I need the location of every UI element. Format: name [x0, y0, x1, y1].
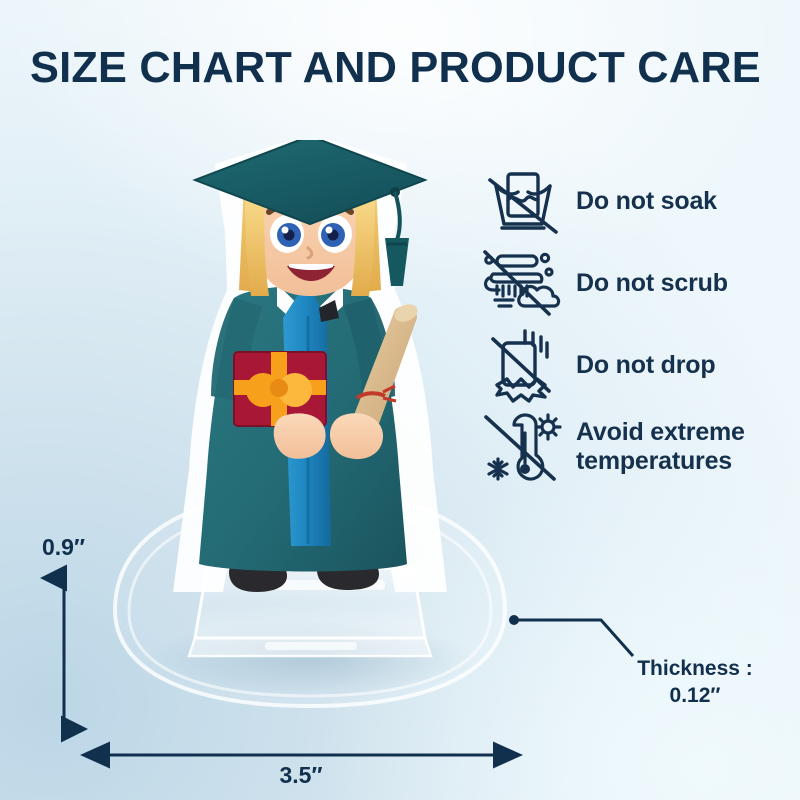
- care-label-do-not-drop: Do not drop: [576, 351, 715, 380]
- product-figure: [95, 140, 525, 760]
- care-label-do-not-scrub: Do not scrub: [576, 269, 728, 298]
- width-dimension-label: 3.5″: [0, 762, 602, 789]
- care-label-do-not-soak: Do not soak: [576, 187, 717, 216]
- care-item-do-not-drop: Do not drop: [470, 324, 790, 406]
- do-not-drop-icon: [470, 329, 576, 401]
- height-dimension-label: 0.9″: [42, 534, 85, 561]
- avoid-extreme-temperatures-icon: [470, 411, 576, 483]
- care-label-avoid-extreme-temperatures: Avoid extreme temperatures: [576, 418, 745, 476]
- right-hand: [330, 413, 383, 459]
- left-hand: [274, 413, 326, 458]
- do-not-soak-icon: [470, 166, 576, 236]
- gift-box: [234, 352, 326, 426]
- care-item-do-not-soak: Do not soak: [470, 160, 790, 242]
- infographic-canvas: SIZE CHART AND PRODUCT CARE: [0, 0, 800, 800]
- care-item-do-not-scrub: Do not scrub: [470, 242, 790, 324]
- graduate-character: [173, 140, 447, 592]
- page-title: SIZE CHART AND PRODUCT CARE: [30, 44, 761, 92]
- thickness-dimension-label: Thickness : 0.12″: [600, 655, 790, 709]
- do-not-scrub-icon: [470, 248, 576, 318]
- care-item-avoid-extreme-temperatures: Avoid extreme temperatures: [470, 406, 790, 488]
- care-instructions-list: Do not soak Do not scrub: [470, 160, 790, 488]
